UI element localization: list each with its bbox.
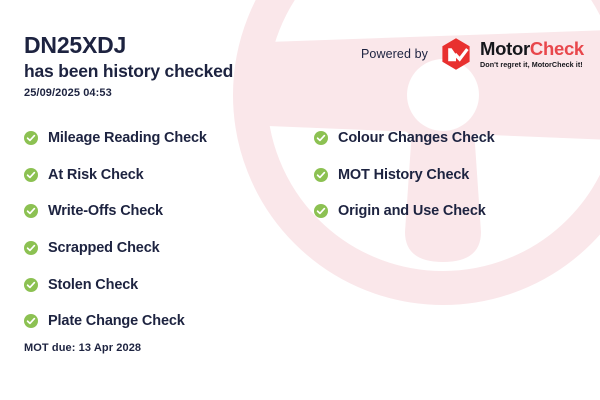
check-circle-icon: [24, 204, 38, 218]
check-circle-icon: [314, 131, 328, 145]
card-header: DN25XDJ has been history checked 25/09/2…: [0, 0, 600, 112]
vehicle-history-check-card: DN25XDJ has been history checked 25/09/2…: [0, 0, 600, 400]
check-circle-icon: [314, 204, 328, 218]
registration-block: DN25XDJ has been history checked 25/09/2…: [24, 33, 233, 99]
check-timestamp: 25/09/2025 04:53: [24, 87, 233, 99]
check-item-stolen: Stolen Check: [24, 266, 314, 303]
check-item-plate-change: Plate Change Check: [24, 303, 314, 340]
powered-by-label: Powered by: [361, 47, 428, 61]
page-title: has been history checked: [24, 61, 233, 82]
check-item-label: Write-Offs Check: [48, 203, 163, 219]
brand-tagline: Don't regret it, MotorCheck it!: [480, 61, 584, 68]
mot-due-text: MOT due: 13 Apr 2028: [24, 342, 141, 354]
check-item-label: Stolen Check: [48, 277, 138, 293]
check-circle-icon: [24, 131, 38, 145]
brand-wordmark: MotorCheck Don't regret it, MotorCheck i…: [480, 40, 584, 68]
check-item-mileage-reading: Mileage Reading Check: [24, 120, 314, 157]
check-item-label: Scrapped Check: [48, 240, 160, 256]
check-item-label: MOT History Check: [338, 167, 469, 183]
check-item-label: Colour Changes Check: [338, 130, 495, 146]
check-item-label: Origin and Use Check: [338, 203, 486, 219]
check-circle-icon: [24, 278, 38, 292]
checks-column-right: Colour Changes Check MOT History Check O…: [314, 120, 584, 340]
checks-grid: Mileage Reading Check At Risk Check Writ…: [24, 120, 584, 340]
powered-by-brand-block: Powered by MotorCheck Don't regret it, M…: [361, 34, 584, 74]
check-circle-icon: [24, 168, 38, 182]
brand-wordmark-text: MotorCheck: [480, 40, 584, 59]
check-item-label: Mileage Reading Check: [48, 130, 207, 146]
check-item-label: At Risk Check: [48, 167, 144, 183]
brand-wordmark-motor: Motor: [480, 38, 530, 59]
check-item-at-risk: At Risk Check: [24, 157, 314, 194]
check-circle-icon: [24, 241, 38, 255]
check-item-label: Plate Change Check: [48, 313, 185, 329]
registration-plate: DN25XDJ: [24, 33, 233, 59]
checks-column-left: Mileage Reading Check At Risk Check Writ…: [24, 120, 314, 340]
check-circle-icon: [314, 168, 328, 182]
check-item-origin-and-use: Origin and Use Check: [314, 193, 584, 230]
brand-wordmark-check: Check: [530, 38, 584, 59]
check-item-scrapped: Scrapped Check: [24, 230, 314, 267]
check-item-mot-history: MOT History Check: [314, 157, 584, 194]
motorcheck-hexagon-logo: [439, 37, 473, 71]
check-circle-icon: [24, 314, 38, 328]
check-item-colour-changes: Colour Changes Check: [314, 120, 584, 157]
check-item-write-offs: Write-Offs Check: [24, 193, 314, 230]
